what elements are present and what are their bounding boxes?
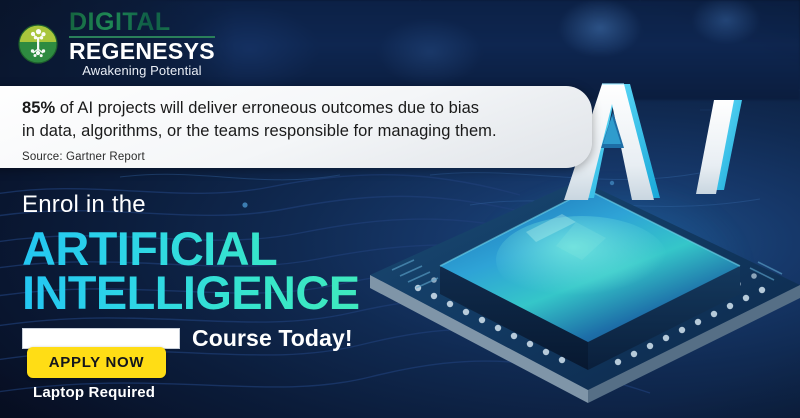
quote-panel: 85% of AI projects will deliver erroneou… bbox=[0, 86, 592, 168]
headline-kicker: Enrol in the bbox=[22, 193, 359, 217]
headline-block: Enrol in the ARTIFICIAL INTELLIGENCE Cou… bbox=[22, 193, 359, 352]
headline-line-2: INTELLIGENCE bbox=[22, 270, 359, 316]
brand-logo[interactable]: DIGITAL REGENESYS Awakening Potential bbox=[14, 10, 215, 77]
quote-content: 85% of AI projects will deliver erroneou… bbox=[22, 97, 562, 163]
brand-name-line1: DIGITAL bbox=[69, 10, 215, 38]
quote-line-1-rest: of AI projects will deliver erroneous ou… bbox=[55, 99, 479, 117]
headline-suffix: Course Today! bbox=[192, 325, 353, 352]
brand-tagline: Awakening Potential bbox=[69, 64, 215, 77]
quote-line-1: 85% of AI projects will deliver erroneou… bbox=[22, 97, 562, 120]
quote-source: Source: Gartner Report bbox=[22, 151, 562, 163]
promo-banner: DIGITAL REGENESYS Awakening Potential 85… bbox=[0, 0, 800, 418]
quote-stat: 85% bbox=[22, 99, 55, 117]
apply-now-button[interactable]: APPLY NOW bbox=[27, 347, 166, 378]
tree-emblem-icon bbox=[14, 20, 62, 68]
laptop-required-note: Laptop Required bbox=[33, 384, 155, 401]
quote-line-2: in data, algorithms, or the teams respon… bbox=[22, 120, 562, 143]
redacted-bar bbox=[22, 328, 180, 349]
brand-wordmark: DIGITAL REGENESYS Awakening Potential bbox=[69, 10, 215, 77]
brand-name-line2: REGENESYS bbox=[69, 40, 215, 63]
